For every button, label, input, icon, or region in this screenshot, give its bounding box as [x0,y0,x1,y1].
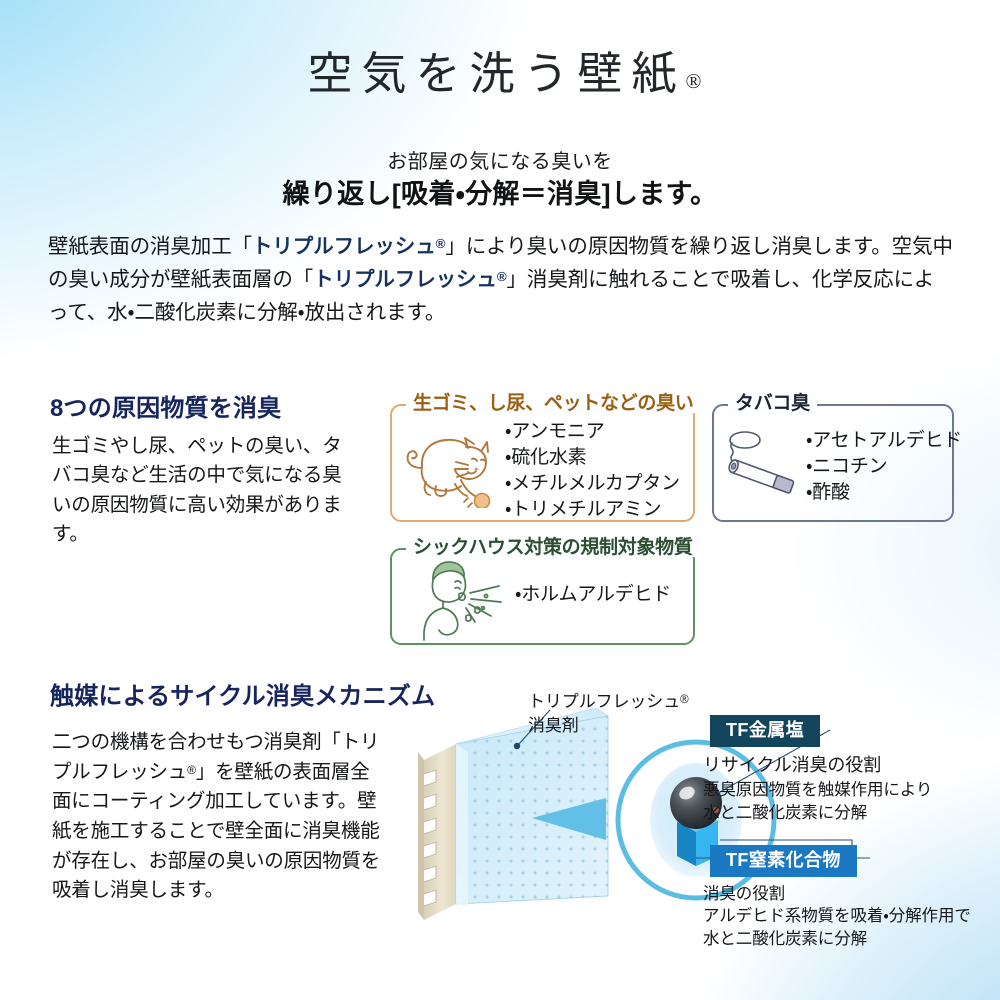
metal-salt-description: 悪臭原因物質を触媒作用により 水と二酸化炭素に分解 [703,779,932,825]
odor-item: ・アセトアルデヒド [806,428,962,454]
section-body-odor: 生ゴミやし尿、ペットの臭い、タバコ臭など生活の中で気になる臭いの原因物質に高い効… [52,432,352,549]
odor-item: ・ホルムアルデヒド [515,582,671,608]
registered-mark-icon: ® [680,694,688,706]
registered-mark-icon: ® [686,69,702,93]
odor-item: ・ニコチン [806,454,962,480]
odor-box-garbage-items: ・アンモニア ・硫化水素 ・メチルメルカプタン ・トリメチルアミン [505,419,680,523]
brand-name-first: トリプルフレッシュ® [252,235,445,258]
section-heading-mechanism: 触媒によるサイクル消臭メカニズム [50,676,435,711]
mechanism-diagram: トリプルフレッシュ® 消臭剤 TF金属塩 リサイクル消臭の役割 悪臭原因物質を触… [400,690,1000,980]
odor-box-garbage-legend: 生ゴミ、し尿、ペットなどの臭い [406,394,701,413]
callout-line-2: 消臭剤 [528,716,579,735]
odor-box-garbage: 生ゴミ、し尿、ペットなどの臭い [390,404,695,522]
metal-salt-role: リサイクル消臭の役割 [703,753,881,777]
odor-item: ・アンモニア [505,419,680,445]
registered-mark-icon: ® [436,236,446,251]
odor-box-tobacco: タバコ臭 ・アセトアルデヒド ・ニコチン ・酢酸 [712,404,954,522]
intro-paragraph: 壁紙表面の消臭加工「トリプルフレッシュ®」により臭いの原因物質を繰り返し消臭しま… [48,230,953,330]
registered-mark-icon: ® [497,269,507,284]
odor-item: ・硫化水素 [505,445,680,471]
odor-box-sickhouse-legend: シックハウス対策の規制対象物質 [406,538,700,557]
odor-box-tobacco-items: ・アセトアルデヒド ・ニコチン ・酢酸 [806,428,962,506]
nitrogen-description: アルデヒド系物質を吸着・分解作用で 水と二酸化炭素に分解 [703,905,971,951]
odor-item: ・トリメチルアミン [505,497,680,523]
subtitle-line-2: 繰り返し[吸着・分解＝消臭]します。 [0,172,1000,211]
odor-box-sickhouse: シックハウス対策の規制対象物質 [390,548,695,645]
badge-tf-nitrogen-compound: TF窒素化合物 [710,845,857,877]
registered-mark-icon: ® [187,762,196,776]
coughing-person-icon [417,556,509,642]
brand-text: トリプルフレッシュ [252,235,436,258]
page-title: 空気を洗う壁紙® [0,48,1000,101]
badge-tf-metal-salt: TF金属塩 [710,715,820,747]
diagram-callout-triplefresh: トリプルフレッシュ® 消臭剤 [528,690,689,738]
section-heading-odor: 8つの原因物質を消臭 [50,388,281,423]
odor-item: ・メチルメルカプタン [505,471,680,497]
brand-name-second: トリプルフレッシュ® [313,268,506,291]
nitrogen-role: 消臭の役割 [703,883,785,905]
page-title-text: 空気を洗う壁紙 [308,49,686,99]
subtitle-line-1: お部屋の気になる臭いを [0,145,1000,174]
intro-text-part1: 壁紙表面の消臭加工「 [48,235,252,258]
odor-box-sickhouse-items: ・ホルムアルデヒド [515,582,671,608]
odor-box-tobacco-legend: タバコ臭 [728,394,817,413]
section-body-mechanism: 二つの機構を合わせもつ消臭剤「トリプルフレッシュ®」を壁紙の表面層全面にコーティ… [52,728,382,906]
cigarette-icon [720,428,804,498]
odor-item: ・酢酸 [806,480,962,506]
callout-line-1: トリプルフレッシュ [528,692,680,711]
cat-icon [398,424,502,508]
brand-text: トリプルフレッシュ [313,268,497,291]
